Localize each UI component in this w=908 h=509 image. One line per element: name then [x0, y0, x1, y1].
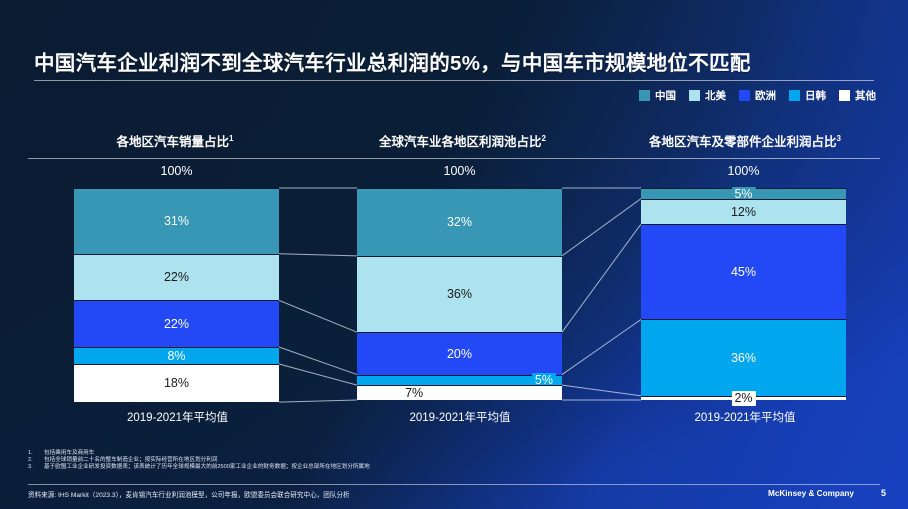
segment-value-label: 22%: [164, 271, 189, 284]
bar-2-segment-日韩[interactable]: 5%: [357, 375, 562, 386]
legend-swatch-icon: [639, 90, 650, 101]
x-axis-label-3: 2019-2021年平均值: [620, 409, 870, 425]
bar-3-segment-欧洲[interactable]: 45%: [641, 224, 846, 319]
bar-2-segment-其他[interactable]: 7%: [357, 385, 562, 400]
source-divider: [28, 484, 880, 485]
bar-2-segment-欧洲[interactable]: 20%: [357, 332, 562, 374]
legend-item-其他[interactable]: 其他: [839, 88, 876, 103]
column-title-2: 全球汽车业各地区利润池占比2: [340, 131, 585, 150]
legend-item-欧洲[interactable]: 欧洲: [739, 88, 776, 103]
segment-value-label: 22%: [164, 318, 189, 331]
segment-value-label: 36%: [447, 288, 472, 301]
footnote-number: 1.: [28, 450, 44, 457]
legend-item-label: 日韩: [805, 88, 826, 103]
column-title-2-footnote-marker: 2: [542, 134, 546, 143]
bar-3-total-label: 100%: [641, 164, 846, 178]
slide-root: 中国汽车企业利润不到全球汽车行业总利润的5%，与中国车市规模地位不匹配 中国北美…: [0, 0, 908, 509]
stacked-bar-chart: 100% 31%22%22%8%18% 100% 32%36%20%5%7% 1…: [0, 160, 908, 420]
bar-3-segment-其他[interactable]: 2%: [641, 396, 846, 400]
page-number: 5: [881, 488, 886, 498]
bar-3-segment-日韩[interactable]: 36%: [641, 319, 846, 395]
segment-value-label: 20%: [447, 348, 472, 361]
x-axis-label-2: 2019-2021年平均值: [340, 409, 580, 425]
brand-label: McKinsey & Company: [768, 489, 854, 498]
stacked-bar-3: 100% 5%12%45%36%2%: [641, 188, 846, 400]
bar-2-segment-北美[interactable]: 36%: [357, 256, 562, 332]
legend-item-label: 欧洲: [755, 88, 776, 103]
segment-value-label: 12%: [731, 206, 756, 219]
page-title: 中国汽车企业利润不到全球汽车行业总利润的5%，与中国车市规模地位不匹配: [34, 46, 876, 76]
column-title-3-text: 各地区汽车及零部件企业利润占比: [649, 135, 837, 149]
legend-swatch-icon: [739, 90, 750, 101]
column-title-3: 各地区汽车及零部件企业利润占比3: [600, 131, 890, 150]
legend-item-label: 中国: [655, 88, 676, 103]
column-title-1-text: 各地区汽车销量占比: [117, 135, 230, 149]
chart-legend: 中国北美欧洲日韩其他: [639, 88, 876, 103]
column-title-3-footnote-marker: 3: [837, 134, 841, 143]
footnote-item: 3.基于欧盟工业企业研发投资数据表；该表统计了历年全球规模最大的前2500家工业…: [28, 464, 878, 471]
bar-1-segment-欧洲[interactable]: 22%: [74, 300, 279, 347]
segment-value-label: 32%: [447, 216, 472, 229]
column-title-1-footnote-marker: 1: [229, 134, 233, 143]
segment-value-label: 31%: [164, 215, 189, 228]
stacked-bar-2: 100% 32%36%20%5%7%: [357, 188, 562, 400]
legend-swatch-icon: [839, 90, 850, 101]
bar-1-segment-其他[interactable]: 18%: [74, 364, 279, 402]
segment-value-label: 18%: [164, 377, 189, 390]
bar-2-total-label: 100%: [357, 164, 562, 178]
segment-value-label: 45%: [731, 266, 756, 279]
header-divider: [28, 158, 880, 159]
footnotes-list: 1.包括乘用车及商用车2.包括全球销量前二十名的整车制造企业；按实际经营所在地区…: [28, 450, 878, 472]
bar-3-segment-中国[interactable]: 5%: [641, 188, 846, 199]
legend-item-中国[interactable]: 中国: [639, 88, 676, 103]
legend-swatch-icon: [689, 90, 700, 101]
x-axis-label-1: 2019-2021年平均值: [60, 409, 295, 425]
segment-value-label: 36%: [731, 352, 756, 365]
bar-1-total-label: 100%: [74, 164, 279, 178]
footnote-number: 2.: [28, 457, 44, 464]
column-title-2-text: 全球汽车业各地区利润池占比: [379, 135, 542, 149]
legend-item-北美[interactable]: 北美: [689, 88, 726, 103]
bar-3-segment-北美[interactable]: 12%: [641, 199, 846, 224]
legend-swatch-icon: [789, 90, 800, 101]
source-note: 资料来源: IHS Markit（2023.3），麦肯锡汽车行业利润池模型，公司…: [28, 489, 350, 499]
legend-item-label: 北美: [705, 88, 726, 103]
bar-2-segment-中国[interactable]: 32%: [357, 188, 562, 256]
segment-value-label: 2%: [731, 391, 755, 406]
stacked-bar-1: 100% 31%22%22%8%18%: [74, 188, 279, 400]
bar-1-segment-日韩[interactable]: 8%: [74, 347, 279, 364]
segment-value-label: 7%: [402, 386, 426, 401]
title-divider: [34, 80, 874, 81]
bar-1-segment-北美[interactable]: 22%: [74, 254, 279, 301]
segment-value-label: 8%: [167, 350, 185, 363]
column-title-1: 各地区汽车销量占比1: [60, 131, 290, 150]
legend-item-label: 其他: [855, 88, 876, 103]
bar-1-segment-中国[interactable]: 31%: [74, 188, 279, 254]
legend-item-日韩[interactable]: 日韩: [789, 88, 826, 103]
footnote-text: 基于欧盟工业企业研发投资数据表；该表统计了历年全球规模最大的前2500家工业企业…: [44, 464, 370, 471]
footnote-number: 3.: [28, 464, 44, 471]
